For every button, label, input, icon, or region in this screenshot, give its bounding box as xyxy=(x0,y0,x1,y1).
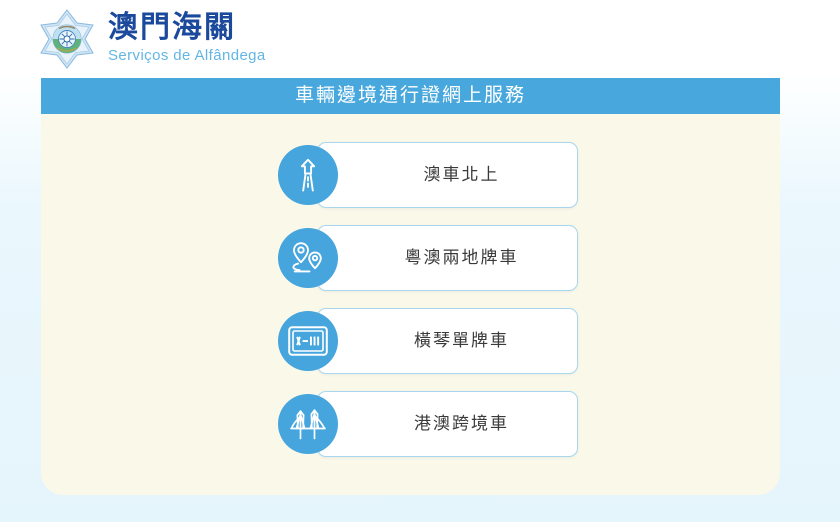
brand-header: 澳門海關 Serviços de Alfândega xyxy=(36,6,266,72)
menu-item-label: 橫琴單牌車 xyxy=(414,331,509,351)
page-title: 車輛邊境通行證網上服務 xyxy=(295,85,526,107)
service-menu: 澳車北上 xyxy=(278,142,578,457)
brand-name-cn: 澳門海關 xyxy=(108,11,266,45)
page-root: 澳門海關 Serviços de Alfândega 車輛邊境通行證網上服務 xyxy=(0,0,840,522)
content-panel: 澳車北上 xyxy=(41,114,780,495)
menu-item-label: 港澳跨境車 xyxy=(414,414,509,434)
menu-item-label: 澳車北上 xyxy=(424,165,500,185)
license-plate-icon xyxy=(278,311,338,371)
bridge-icon xyxy=(278,394,338,454)
menu-item-guangdong-macao-dual-plate[interactable]: 粵澳兩地牌車 xyxy=(278,225,578,291)
menu-card[interactable]: 橫琴單牌車 xyxy=(317,308,578,374)
menu-card[interactable]: 港澳跨境車 xyxy=(317,391,578,457)
menu-card[interactable]: 粵澳兩地牌車 xyxy=(317,225,578,291)
macao-customs-star-badge-icon xyxy=(36,8,98,70)
brand-text: 澳門海關 Serviços de Alfândega xyxy=(108,11,266,67)
road-up-arrow-icon xyxy=(278,145,338,205)
menu-card[interactable]: 澳車北上 xyxy=(317,142,578,208)
brand-name-pt: Serviços de Alfândega xyxy=(108,46,266,65)
menu-item-hk-macao-cross-border[interactable]: 港澳跨境車 xyxy=(278,391,578,457)
menu-item-macao-vehicles-north[interactable]: 澳車北上 xyxy=(278,142,578,208)
menu-item-hengqin-single-plate[interactable]: 橫琴單牌車 xyxy=(278,308,578,374)
two-map-pins-icon xyxy=(278,228,338,288)
menu-item-label: 粵澳兩地牌車 xyxy=(405,248,519,268)
page-title-banner: 車輛邊境通行證網上服務 xyxy=(41,78,780,114)
